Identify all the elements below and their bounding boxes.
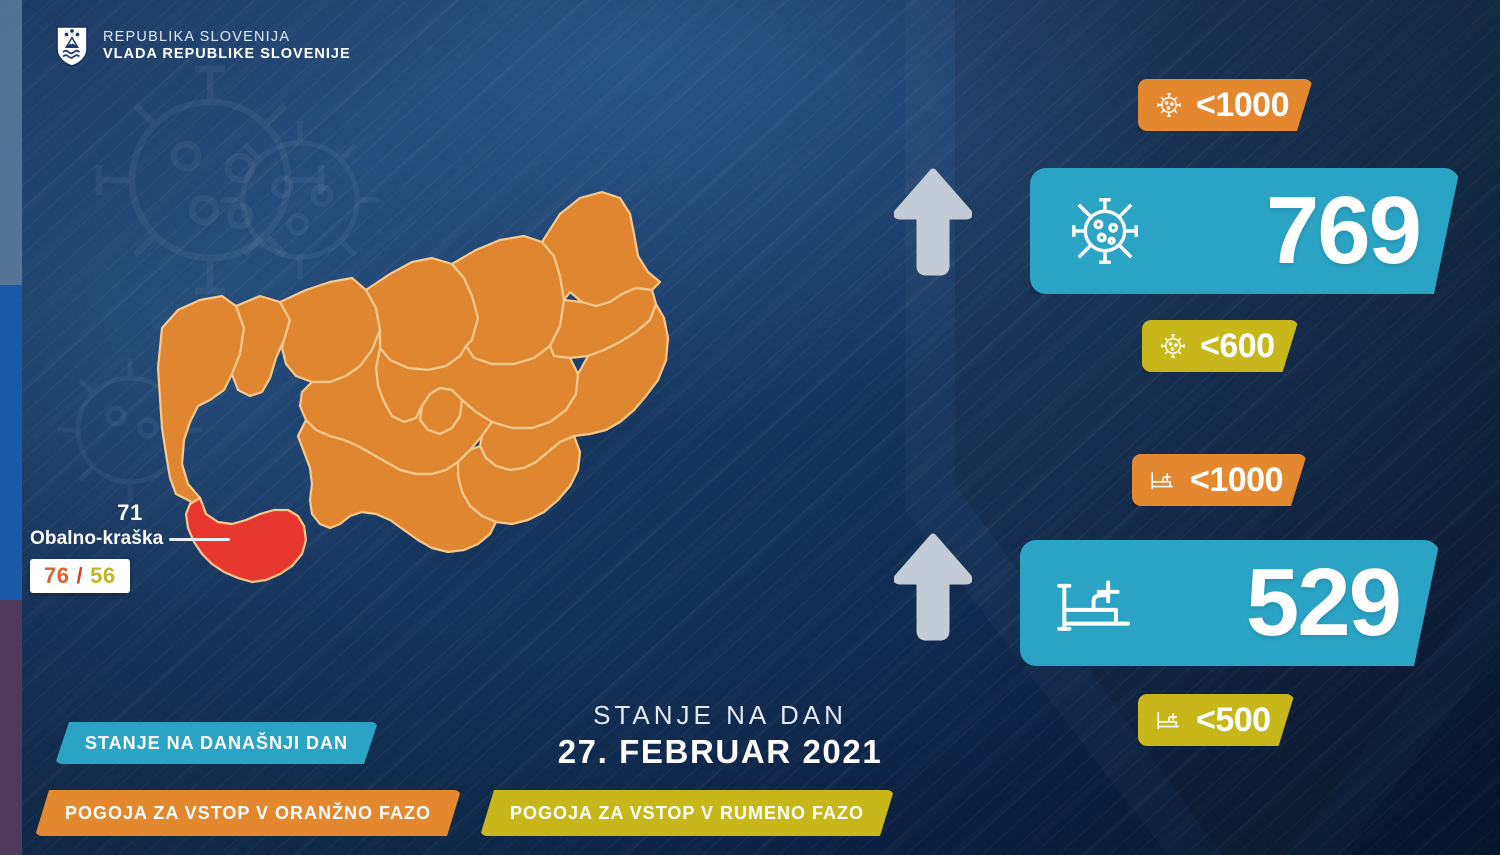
legend-yellow-phase[interactable]: POGOJA ZA VSTOP V RUMENO FAZO — [480, 790, 894, 836]
edge-segment-1 — [0, 0, 22, 285]
map-svg — [140, 178, 870, 658]
cases-orange-threshold-label: <1000 — [1196, 86, 1289, 125]
date-block: STANJE NA DAN 27. FEBRUAR 2021 — [500, 700, 940, 771]
legend-today[interactable]: STANJE NA DANAŠNJI DAN — [55, 722, 378, 764]
callout-leader-line — [169, 538, 230, 541]
region-name: Obalno-kraška — [30, 528, 163, 550]
map-region[interactable] — [232, 296, 290, 396]
date-value: 27. FEBRUAR 2021 — [500, 733, 940, 771]
edge-segment-2 — [0, 285, 22, 600]
cases-yellow-threshold-badge[interactable]: <600 — [1142, 320, 1299, 372]
hospital-bed-icon — [1154, 705, 1184, 735]
legend-orange-phase-label: POGOJA ZA VSTOP V ORANŽNO FAZO — [65, 803, 431, 824]
hospitalized-value: 529 — [1246, 555, 1400, 651]
region-threshold-pill: 76 / 56 — [30, 559, 130, 593]
map-region[interactable] — [158, 296, 244, 514]
cases-orange-threshold-badge[interactable]: <1000 — [1138, 79, 1313, 131]
hospitalized-yellow-threshold-label: <500 — [1196, 701, 1271, 740]
virus-icon — [1064, 190, 1146, 272]
edge-color-strip — [0, 0, 22, 855]
legend-today-label: STANJE NA DANAŠNJI DAN — [85, 733, 348, 754]
arrow-up-icon — [894, 168, 972, 278]
cases-value-badge[interactable]: 769 — [1030, 168, 1460, 294]
hospitalized-orange-threshold-label: <1000 — [1190, 461, 1283, 500]
cases-yellow-threshold-label: <600 — [1200, 327, 1275, 366]
legend-orange-phase[interactable]: POGOJA ZA VSTOP V ORANŽNO FAZO — [35, 790, 461, 836]
region-value: 71 — [30, 500, 230, 526]
threshold-separator: / — [76, 563, 83, 589]
legend-yellow-phase-label: POGOJA ZA VSTOP V RUMENO FAZO — [510, 803, 864, 824]
virus-icon — [1154, 90, 1184, 120]
slovenia-region-map — [140, 178, 870, 658]
hospital-bed-icon — [1054, 560, 1140, 646]
hospitalized-yellow-threshold-badge[interactable]: <500 — [1138, 694, 1295, 746]
region-callout: 71 Obalno-kraška 76 / 56 — [30, 500, 230, 593]
hospitalized-value-badge[interactable]: 529 — [1020, 540, 1440, 666]
edge-segment-3 — [0, 600, 22, 855]
header-line-2: VLADA REPUBLIKE SLOVENIJE — [103, 46, 351, 63]
header-line-1: REPUBLIKA SLOVENIJA — [103, 29, 351, 46]
threshold-orange-value: 76 — [44, 563, 69, 589]
hospital-bed-icon — [1148, 465, 1178, 495]
metrics-panel: <1000 769 <600 — [880, 0, 1500, 800]
virus-icon — [1158, 331, 1188, 361]
threshold-yellow-value: 56 — [90, 563, 115, 589]
hospitalized-orange-threshold-badge[interactable]: <1000 — [1132, 454, 1307, 506]
date-prefix: STANJE NA DAN — [500, 700, 940, 731]
government-header: REPUBLIKA SLOVENIJA VLADA REPUBLIKE SLOV… — [55, 24, 351, 68]
arrow-up-icon — [894, 533, 972, 643]
slovenia-coat-of-arms-icon — [55, 24, 89, 68]
cases-value: 769 — [1266, 183, 1420, 279]
